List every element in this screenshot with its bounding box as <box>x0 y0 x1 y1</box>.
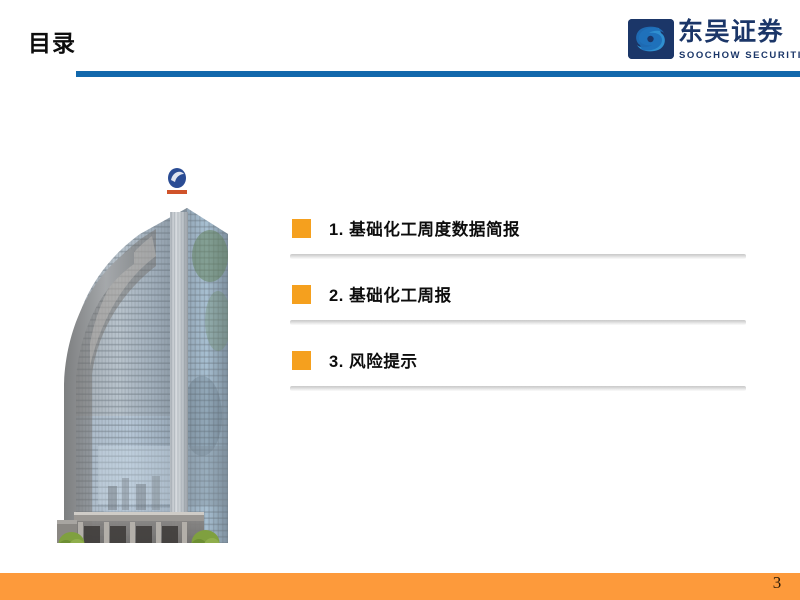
agenda-item-3-row[interactable]: 3. 风险提示 <box>290 338 746 382</box>
agenda-item-1-label: 1. 基础化工周度数据简报 <box>329 216 520 240</box>
soochow-swirl-logo-icon <box>628 19 674 59</box>
square-bullet-icon <box>292 219 311 238</box>
agenda-item-3-label: 3. 风险提示 <box>329 348 418 372</box>
agenda-item-2-label: 2. 基础化工周报 <box>329 282 452 306</box>
square-bullet-icon <box>292 351 311 370</box>
header-divider-rule <box>76 71 800 77</box>
agenda-list: 1. 基础化工周度数据简报 2. 基础化工周报 3. 风险提示 <box>290 206 746 404</box>
brand-logo: 东吴证券 SOOCHOW SECURITIES <box>628 17 792 67</box>
brand-name-cn: 东吴证券 <box>678 17 784 47</box>
agenda-item-3[interactable]: 3. 风险提示 <box>290 338 746 404</box>
agenda-item-3-underline <box>290 386 746 391</box>
page-number: 3 <box>766 572 788 594</box>
footer-band <box>0 573 800 600</box>
agenda-item-1-underline <box>290 254 746 259</box>
agenda-item-2-underline <box>290 320 746 325</box>
square-bullet-icon <box>292 285 311 304</box>
agenda-item-1[interactable]: 1. 基础化工周度数据简报 <box>290 206 746 272</box>
brand-name-en: SOOCHOW SECURITIES <box>679 50 800 62</box>
agenda-item-1-row[interactable]: 1. 基础化工周度数据简报 <box>290 206 746 250</box>
agenda-item-2[interactable]: 2. 基础化工周报 <box>290 272 746 338</box>
agenda-item-2-row[interactable]: 2. 基础化工周报 <box>290 272 746 316</box>
headquarters-building-photo <box>52 116 242 543</box>
presentation-slide: 目录 东吴证券 SOOCHOW SECURITIES <box>0 0 800 600</box>
page-title: 目录 <box>28 28 76 58</box>
